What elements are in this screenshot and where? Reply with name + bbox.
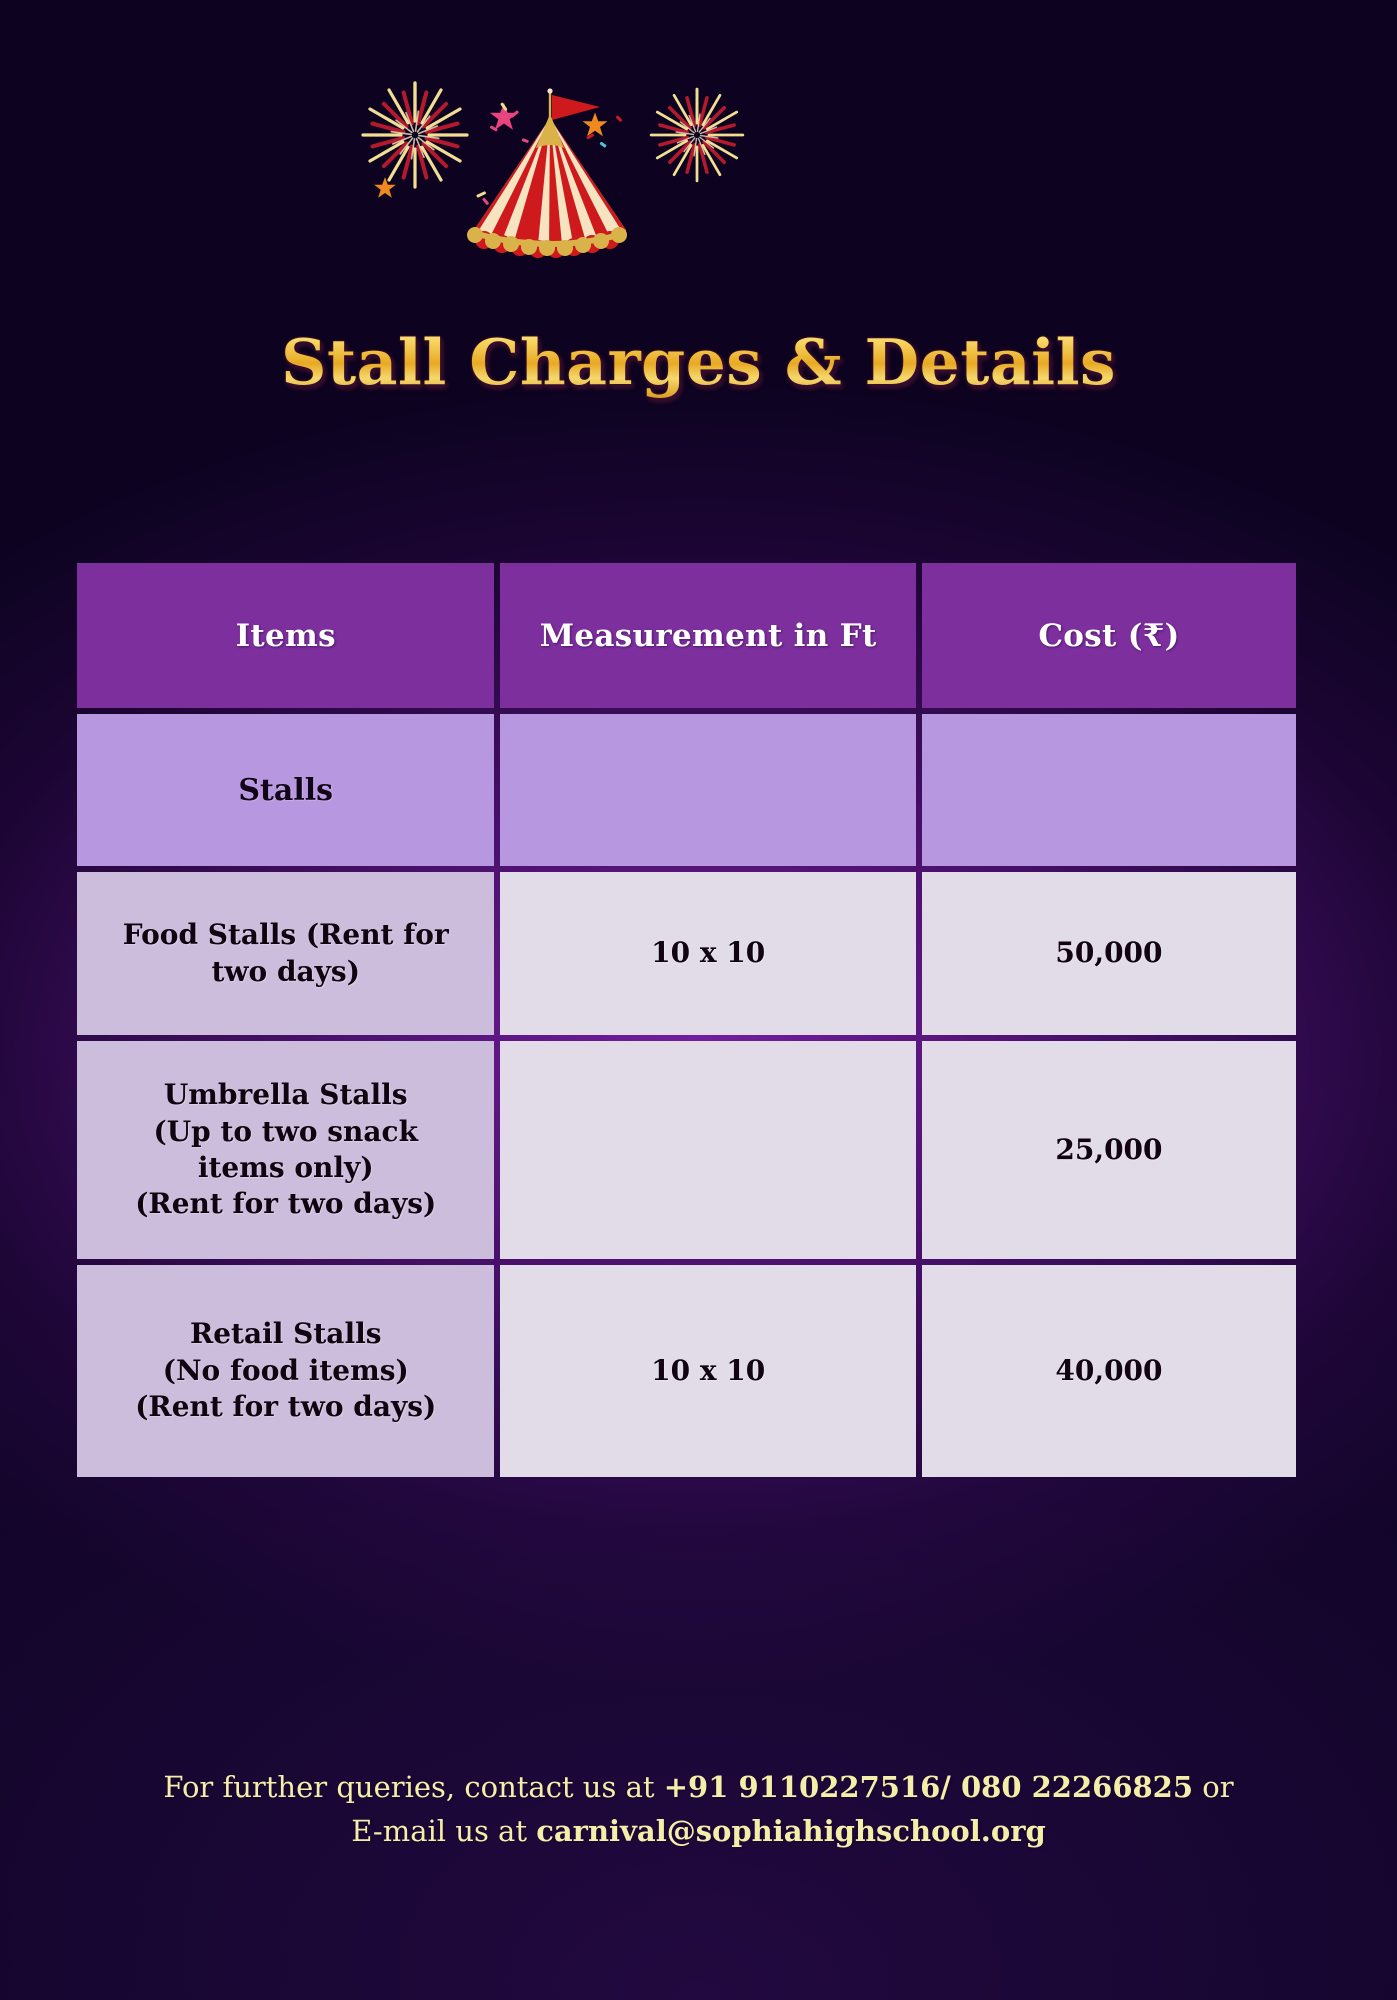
star-orange-small-icon xyxy=(372,175,398,201)
table-body: Stalls Food Stalls (Rent for two days) 1… xyxy=(77,714,1296,1477)
confetti-specks-icon xyxy=(470,95,650,245)
cell-measurement-retail-stalls: 10 x 10 xyxy=(500,1265,915,1477)
firework-right-icon xyxy=(642,80,752,190)
cell-cost-retail-stalls: 40,000 xyxy=(922,1265,1296,1477)
poster-root: Stall Charges & Details Items Measuremen… xyxy=(0,0,1397,2000)
table-row-retail-stalls: Retail Stalls (No food items) (Rent for … xyxy=(77,1265,1296,1477)
table-header: Items Measurement in Ft Cost (₹) xyxy=(77,563,1296,708)
cell-item-retail-stalls: Retail Stalls (No food items) (Rent for … xyxy=(77,1265,494,1477)
item-line: Umbrella Stalls xyxy=(164,1078,408,1111)
section-cost-stalls xyxy=(922,714,1296,866)
item-line: (No food items) xyxy=(163,1354,409,1387)
contact-phone-numbers[interactable]: +91 9110227516/ 080 22266825 xyxy=(664,1770,1193,1804)
item-line: two days) xyxy=(211,955,359,988)
cell-measurement-food-stalls: 10 x 10 xyxy=(500,872,915,1035)
contact-line-phone: For further queries, contact us at +91 9… xyxy=(0,1765,1397,1809)
cell-cost-food-stalls: 50,000 xyxy=(922,872,1296,1035)
item-line: (Rent for two days) xyxy=(135,1390,436,1423)
table-section-row-stalls: Stalls xyxy=(77,714,1296,866)
item-line: items only) xyxy=(198,1151,374,1184)
stall-charges-table: Items Measurement in Ft Cost (₹) Stalls … xyxy=(71,557,1302,1483)
section-measurement-stalls xyxy=(500,714,915,866)
column-header-measurement: Measurement in Ft xyxy=(500,563,915,708)
item-line: Food Stalls (Rent for xyxy=(123,918,449,951)
table-row-food-stalls: Food Stalls (Rent for two days) 10 x 10 … xyxy=(77,872,1296,1035)
item-line: (Up to two snack xyxy=(153,1115,418,1148)
contact-prefix: For further queries, contact us at xyxy=(163,1770,663,1804)
cell-measurement-umbrella-stalls xyxy=(500,1041,915,1259)
item-line: Retail Stalls xyxy=(190,1317,382,1350)
section-label-stalls: Stalls xyxy=(77,714,494,866)
contact-line-email: E-mail us at carnival@sophiahighschool.o… xyxy=(0,1809,1397,1853)
contact-footer: For further queries, contact us at +91 9… xyxy=(0,1765,1397,1853)
item-line: (Rent for two days) xyxy=(135,1187,436,1220)
column-header-cost: Cost (₹) xyxy=(922,563,1296,708)
contact-suffix: or xyxy=(1193,1770,1234,1804)
page-title-container: Stall Charges & Details xyxy=(0,325,1397,399)
cell-item-umbrella-stalls: Umbrella Stalls (Up to two snack items o… xyxy=(77,1041,494,1259)
cell-item-food-stalls: Food Stalls (Rent for two days) xyxy=(77,872,494,1035)
email-prefix: E-mail us at xyxy=(351,1814,536,1848)
header-artwork xyxy=(0,55,1397,270)
page-title: Stall Charges & Details xyxy=(281,325,1116,399)
contact-email-address[interactable]: carnival@sophiahighschool.org xyxy=(536,1814,1046,1848)
table-header-row: Items Measurement in Ft Cost (₹) xyxy=(77,563,1296,708)
cell-cost-umbrella-stalls: 25,000 xyxy=(922,1041,1296,1259)
table-row-umbrella-stalls: Umbrella Stalls (Up to two snack items o… xyxy=(77,1041,1296,1259)
column-header-items: Items xyxy=(77,563,494,708)
